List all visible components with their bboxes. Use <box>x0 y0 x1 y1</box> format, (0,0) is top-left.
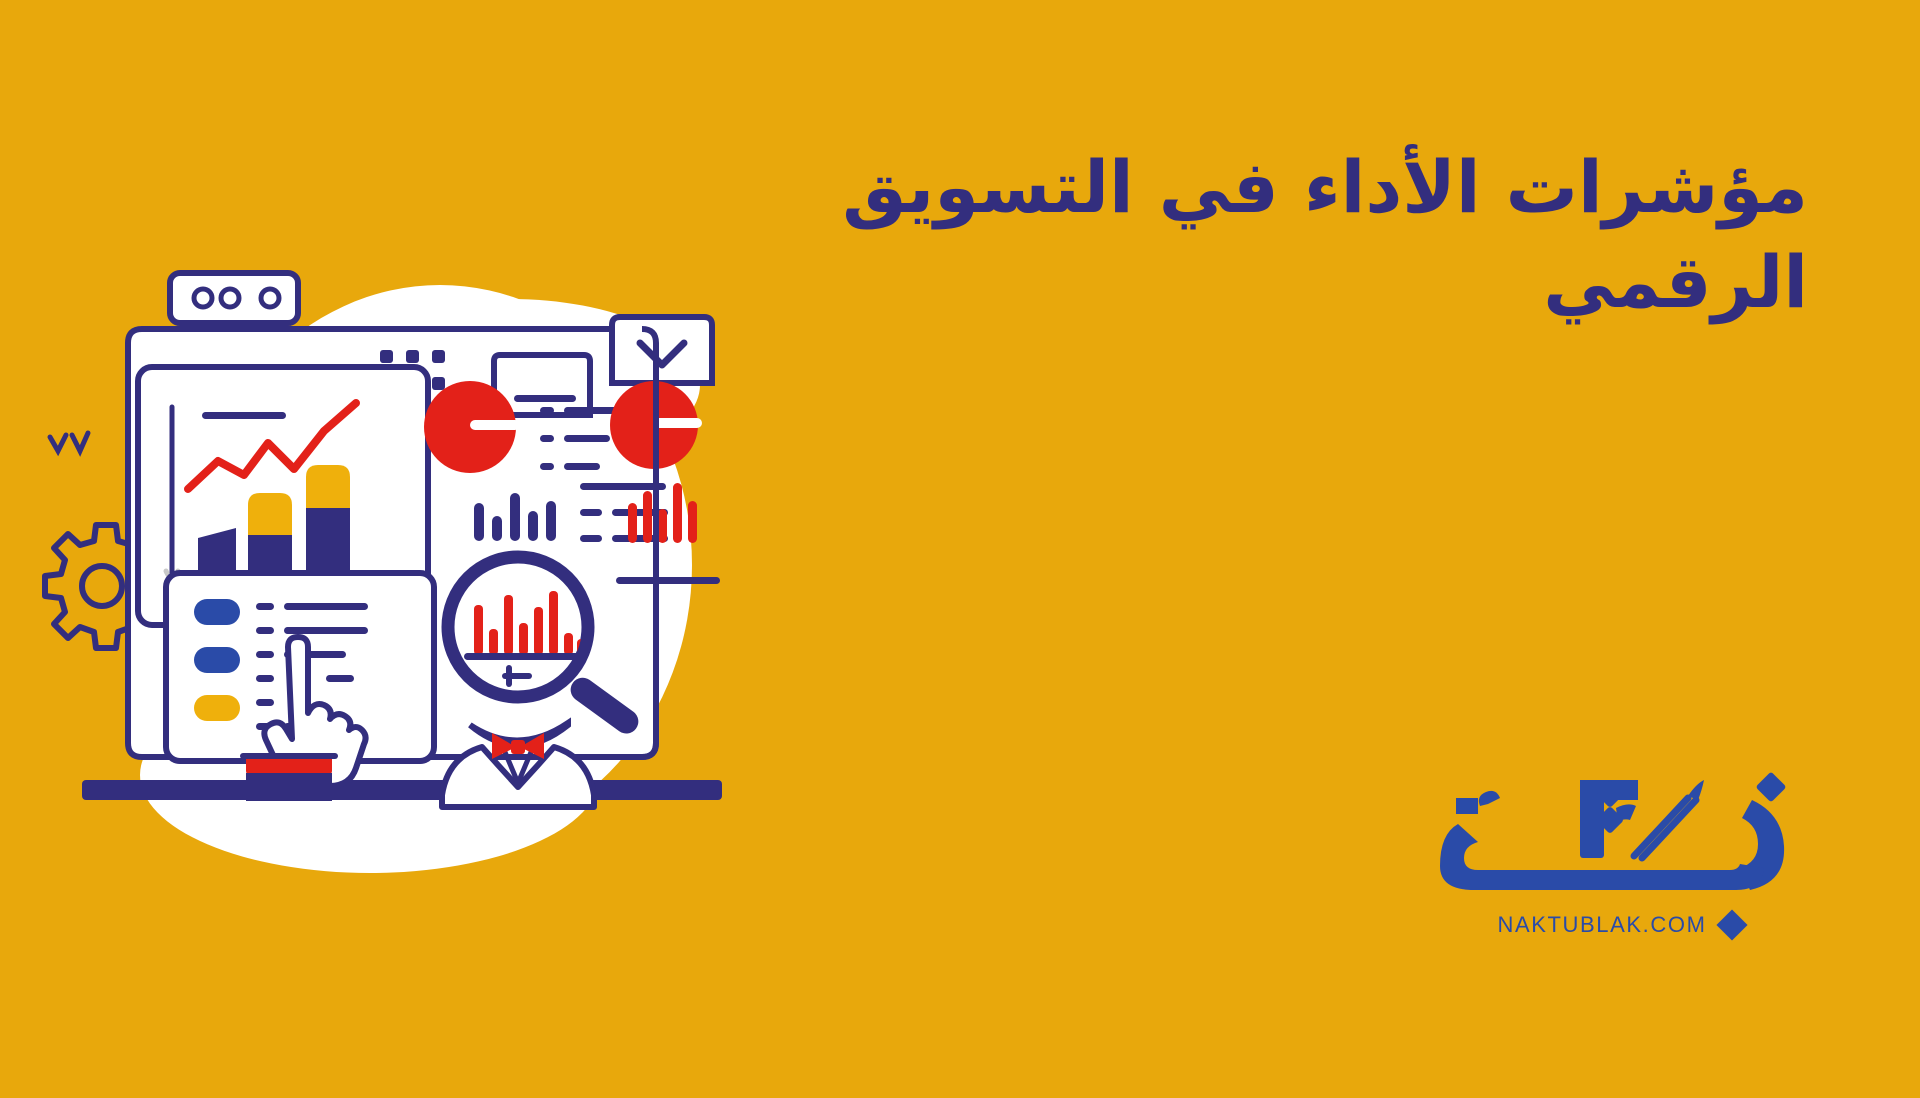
diamond-icon <box>1716 909 1747 940</box>
logo-url-text[interactable]: NAKTUBLAK.COM <box>1497 912 1706 938</box>
digital-marketing-illustration <box>40 255 820 875</box>
page-title: مؤشرات الأداء في التسويق الرقمي <box>808 140 1808 330</box>
checklist-badge-3 <box>194 695 240 721</box>
hand-cuff <box>240 753 338 775</box>
right-side-rules <box>616 577 720 584</box>
poster-canvas: مؤشرات الأداء في التسويق الرقمي <box>0 0 1920 1098</box>
bar-3-top <box>306 465 350 508</box>
board-base-bar <box>82 780 722 800</box>
title-line-2: الرقمي <box>808 235 1808 330</box>
forearm <box>246 773 332 801</box>
logo-wordmark-naktublak <box>1420 770 1820 900</box>
logo-url-row[interactable]: NAKTUBLAK.COM <box>1380 912 1860 938</box>
chevron-down-card[interactable] <box>612 317 712 383</box>
brand-logo[interactable]: NAKTUBLAK.COM <box>1380 770 1860 938</box>
decorative-chevrons <box>50 433 88 451</box>
title-line-1: مؤشرات الأداء في التسويق <box>808 140 1808 235</box>
checklist-badge-1 <box>194 599 240 625</box>
bar-2-top <box>248 493 292 535</box>
toggle-bar-widget[interactable] <box>170 273 298 323</box>
checklist-badge-2 <box>194 647 240 673</box>
